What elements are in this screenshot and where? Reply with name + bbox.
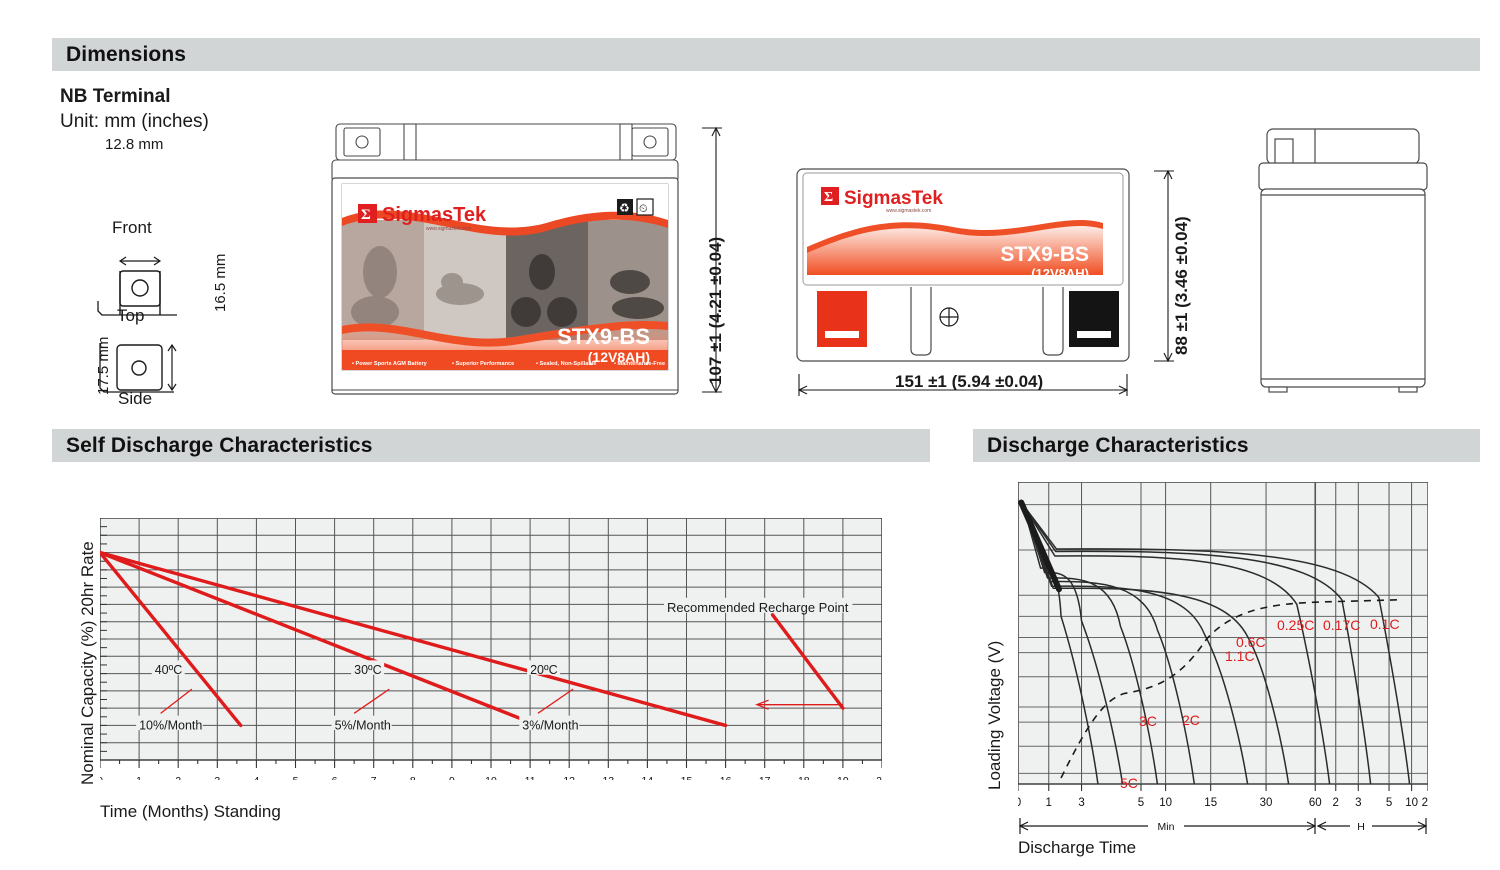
svg-text:3%/Month: 3%/Month [522,718,578,732]
svg-text:2: 2 [1333,797,1339,809]
svg-text:(12V8AH): (12V8AH) [1031,266,1089,281]
svg-text:5: 5 [1138,797,1144,809]
discharge-title: Discharge Characteristics [973,434,1249,458]
nb-terminal-title: NB Terminal [60,86,171,108]
svg-text:SigmasTek: SigmasTek [382,204,487,226]
svg-text:3: 3 [1078,797,1084,809]
svg-text:30ºC: 30ºC [354,663,382,677]
svg-text:7: 7 [371,775,377,780]
self-discharge-ylabel: Nominal Capacity (%) 20hr Rate [78,541,98,785]
svg-text:60: 60 [1309,797,1322,809]
battery-outline-view [1245,125,1440,400]
svg-text:20ºC: 20ºC [530,663,558,677]
svg-text:3: 3 [1355,797,1361,809]
svg-text:⏲: ⏲ [639,203,648,215]
svg-text:19: 19 [837,775,849,780]
svg-text:1: 1 [1046,797,1052,809]
svg-text:11: 11 [525,775,536,780]
self-discharge-chart: 40ºC30ºC20ºC10%/Month5%/Month3%/MonthRec… [100,518,882,780]
svg-text:• Maintenance-Free: • Maintenance-Free [614,361,665,367]
discharge-rate-label: 0.1C [1370,616,1400,632]
svg-text:www.sigmastek.com: www.sigmastek.com [426,226,471,232]
svg-text:10: 10 [1159,797,1172,809]
svg-text:1: 1 [136,775,142,780]
svg-text:14: 14 [642,775,654,780]
terminal-front-label: Front [112,218,152,238]
discharge-chart: 13.012.011.010.510.09.69.08.27.87.06.001… [1018,482,1428,812]
svg-text:6: 6 [332,775,338,780]
svg-text:15: 15 [681,775,693,780]
discharge-rate-label: 3C [1139,713,1157,729]
svg-text:www.sigmastek.com: www.sigmastek.com [886,208,931,214]
discharge-xlabel: Discharge Time [1018,838,1136,858]
svg-text:2: 2 [175,775,181,780]
svg-text:5%/Month: 5%/Month [335,718,391,732]
battery-height-label: 107 ±1 (4.21 ±0.04) [706,237,726,385]
discharge-axis-group: Min H [1018,816,1428,840]
svg-text:20: 20 [1422,797,1428,809]
svg-text:8: 8 [410,775,416,780]
svg-text:9: 9 [449,775,455,780]
terminal-top-label: Top [117,306,144,326]
battery-side-view: Σ SigmasTek www.sigmastek.com STX9-BS (1… [793,165,1133,365]
svg-text:15: 15 [1204,797,1217,809]
svg-text:12: 12 [563,775,575,780]
svg-text:3: 3 [214,775,220,780]
svg-text:4: 4 [253,775,259,780]
discharge-ylabel: Loading Voltage (V) [985,641,1005,790]
svg-text:5: 5 [293,775,299,780]
svg-text:5: 5 [1386,797,1392,809]
svg-text:40ºC: 40ºC [155,663,183,677]
svg-text:• Sealed, Non-Spillable: • Sealed, Non-Spillable [536,361,596,367]
discharge-section-header: Discharge Characteristics [973,429,1480,462]
svg-text:10: 10 [1405,797,1418,809]
battery-side-height-label: 88 ±1 (3.46 ±0.04) [1172,216,1192,355]
svg-text:20: 20 [876,775,882,780]
svg-text:13: 13 [602,775,614,780]
svg-text:30: 30 [1260,797,1273,809]
svg-text:H: H [1357,821,1365,833]
svg-text:17: 17 [759,775,771,780]
svg-text:16: 16 [720,775,732,780]
svg-text:0: 0 [100,775,103,780]
svg-text:18: 18 [798,775,810,780]
svg-text:♻: ♻ [619,201,630,215]
svg-text:STX9-BS: STX9-BS [557,324,650,349]
self-discharge-title: Self Discharge Characteristics [52,434,372,458]
discharge-rate-label: 2C [1182,712,1200,728]
dimensions-title: Dimensions [52,43,186,67]
discharge-rate-label: 0.6C [1236,634,1266,650]
battery-front-view: Σ SigmasTek www.sigmastek.com ♻ ⏲ STX9-B… [330,122,680,397]
terminal-height-label: 16.5 mm [212,254,229,312]
svg-text:Recommended Recharge Point: Recommended Recharge Point [667,600,849,615]
svg-text:• Power Sports AGM Battery: • Power Sports AGM Battery [352,361,428,367]
terminal-width-label: 12.8 mm [105,136,163,153]
self-discharge-section-header: Self Discharge Characteristics [52,429,930,462]
dimensions-section-header: Dimensions [52,38,1480,71]
svg-text:Σ: Σ [361,207,371,223]
self-discharge-xlabel: Time (Months) Standing [100,802,281,822]
svg-text:SigmasTek: SigmasTek [844,188,943,209]
discharge-rate-label: 0.17C [1323,617,1360,633]
svg-text:10: 10 [485,775,497,780]
terminal-side-label: Side [118,389,152,409]
svg-text:0: 0 [1018,797,1021,809]
discharge-rate-label: 1.1C [1225,648,1255,664]
discharge-rate-label: 0.25C [1277,617,1314,633]
terminal-depth-label: 17.5 mm [95,337,112,395]
battery-length-label: 151 ±1 (5.94 ±0.04) [895,372,1043,392]
svg-text:STX9-BS: STX9-BS [1000,243,1089,266]
discharge-rate-label: 5C [1120,775,1138,791]
svg-text:• Superior Performance: • Superior Performance [452,361,514,367]
unit-label: Unit: mm (inches) [60,111,209,133]
svg-text:Min: Min [1158,821,1175,833]
svg-text:10%/Month: 10%/Month [139,718,202,732]
svg-text:Σ: Σ [824,190,833,205]
